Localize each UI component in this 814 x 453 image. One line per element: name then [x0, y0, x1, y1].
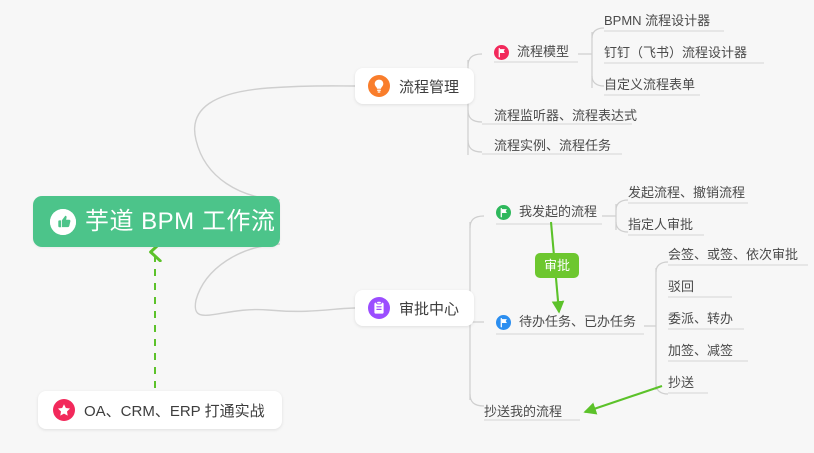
leaf-process-listener-label: 流程监听器、流程表达式: [494, 108, 637, 123]
wire-pm-model-corners: [592, 28, 604, 86]
root-node-label: 芋道 BPM 工作流: [85, 210, 275, 234]
flag-icon: [496, 205, 511, 220]
leaf-cc[interactable]: 抄送: [668, 375, 694, 395]
leaf-reject-label: 驳回: [668, 279, 694, 294]
leaf-todo-done-tasks-label: 待办任务、已办任务: [519, 314, 636, 330]
leaf-assignee-approve[interactable]: 指定人审批: [628, 217, 693, 237]
leaf-process-model-label: 流程模型: [517, 44, 569, 60]
root-node[interactable]: 芋道 BPM 工作流: [33, 196, 280, 247]
clipboard-icon: [368, 297, 390, 319]
leaf-add-remove-sign-label: 加签、减签: [668, 343, 733, 358]
star-icon: [53, 399, 75, 421]
leaf-assignee-approve-label: 指定人审批: [628, 217, 693, 232]
callout-integration-note[interactable]: OA、CRM、ERP 打通实战: [38, 391, 282, 429]
leaf-bpmn-designer[interactable]: BPMN 流程设计器: [604, 13, 710, 33]
leaf-process-instance[interactable]: 流程实例、流程任务: [494, 138, 611, 158]
leaf-add-remove-sign[interactable]: 加签、减签: [668, 343, 733, 363]
arrow-cc-to-ccme: [585, 386, 662, 412]
wire-todo-corners: [656, 262, 668, 394]
wire-mi-corners: [616, 200, 628, 232]
callout-integration-note-label: OA、CRM、ERP 打通实战: [84, 400, 265, 421]
wire-root-to-approval-center: [195, 244, 355, 315]
leaf-dingtalk-designer-label: 钉钉（飞书）流程设计器: [604, 45, 747, 60]
wire-my-initiated-spine: [602, 204, 616, 230]
leaf-process-listener[interactable]: 流程监听器、流程表达式: [494, 108, 637, 128]
annotation-approval-tag-label: 审批: [544, 258, 570, 273]
wire-todo-spine: [644, 268, 656, 390]
leaf-countersign[interactable]: 会签、或签、依次审批: [668, 247, 798, 267]
leaf-cc-to-me-label: 抄送我的流程: [484, 404, 562, 419]
leaf-dingtalk-designer[interactable]: 钉钉（飞书）流程设计器: [604, 45, 747, 65]
lightbulb-icon: [368, 75, 390, 97]
leaf-countersign-label: 会签、或签、依次审批: [668, 247, 798, 262]
wire-root-to-process-management: [195, 86, 355, 200]
flag-icon: [496, 315, 511, 330]
leaf-custom-form[interactable]: 自定义流程表单: [604, 77, 695, 97]
mindmap-canvas: 芋道 BPM 工作流 流程管理 审批中心: [0, 0, 814, 453]
branch-node-approval-center[interactable]: 审批中心: [355, 290, 474, 326]
branch-node-process-management[interactable]: 流程管理: [355, 68, 474, 104]
leaf-my-initiated[interactable]: 我发起的流程: [496, 204, 597, 224]
leaf-custom-form-label: 自定义流程表单: [604, 77, 695, 92]
leaf-reject[interactable]: 驳回: [668, 279, 694, 299]
leaf-process-instance-label: 流程实例、流程任务: [494, 138, 611, 153]
leaf-my-initiated-label: 我发起的流程: [519, 204, 597, 220]
branch-node-approval-center-label: 审批中心: [399, 298, 459, 319]
annotation-approval-tag: 审批: [535, 253, 579, 278]
leaf-delegate-transfer-label: 委派、转办: [668, 311, 733, 326]
leaf-bpmn-designer-label: BPMN 流程设计器: [604, 13, 710, 28]
leaf-initiate-cancel[interactable]: 发起流程、撤销流程: [628, 185, 745, 205]
leaf-cc-to-me[interactable]: 抄送我的流程: [484, 404, 562, 424]
leaf-delegate-transfer[interactable]: 委派、转办: [668, 311, 733, 331]
thumbs-up-icon: [50, 209, 76, 235]
flag-icon: [494, 45, 509, 60]
branch-node-process-management-label: 流程管理: [399, 76, 459, 97]
leaf-cc-label: 抄送: [668, 375, 694, 390]
leaf-initiate-cancel-label: 发起流程、撤销流程: [628, 185, 745, 200]
leaf-process-model[interactable]: 流程模型: [494, 44, 569, 64]
leaf-todo-done-tasks[interactable]: 待办任务、已办任务: [496, 314, 636, 334]
wire-process-model-spine: [578, 32, 592, 88]
